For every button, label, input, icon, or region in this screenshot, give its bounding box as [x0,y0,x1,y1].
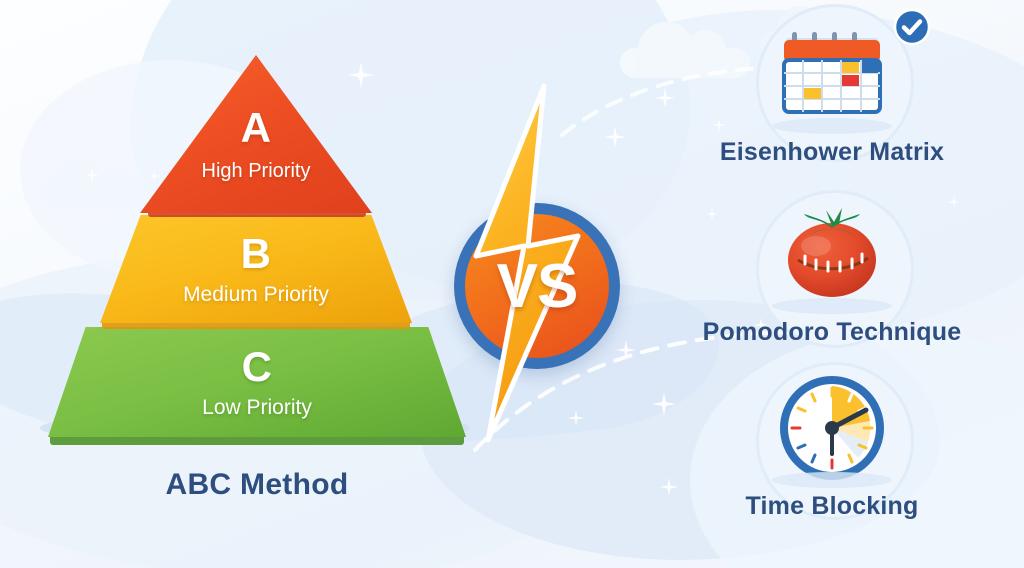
pyramid-tier-b[interactable]: B Medium Priority [100,215,412,323]
method-item-time-blocking[interactable]: Time Blocking [640,370,1024,521]
clock-icon [770,370,894,486]
icon-shadow [772,298,892,314]
versus-badge: VS [432,78,622,448]
abc-method-caption: ABC Method [22,468,492,502]
alternative-methods-list: Eisenhower Matrix [640,0,1024,568]
abc-pyramid: C Low Priority B Medium Priority A High … [22,55,492,455]
tier-b-letter: B [241,233,272,275]
tier-a-letter: A [241,107,272,149]
tier-c-priority-label: Low Priority [202,397,312,418]
method-label: Eisenhower Matrix [720,138,944,167]
method-label: Time Blocking [745,492,918,521]
method-item-eisenhower-matrix[interactable]: Eisenhower Matrix [640,16,1024,167]
tomato-icon [770,196,894,312]
icon-shadow [772,118,892,134]
tier-a-priority-label: High Priority [202,161,311,181]
method-label: Pomodoro Technique [703,318,962,347]
calendar-icon [770,16,894,132]
check-badge-icon [893,8,931,46]
icon-shadow [772,472,892,488]
pyramid-tier-a[interactable]: A High Priority [140,55,372,213]
versus-label: VS [454,203,620,369]
tier-b-priority-label: Medium Priority [183,284,329,305]
infographic-canvas: C Low Priority B Medium Priority A High … [0,0,1024,568]
pyramid-tier-c[interactable]: C Low Priority [48,327,466,437]
method-item-pomodoro-technique[interactable]: Pomodoro Technique [640,196,1024,347]
tier-c-letter: C [242,346,273,388]
